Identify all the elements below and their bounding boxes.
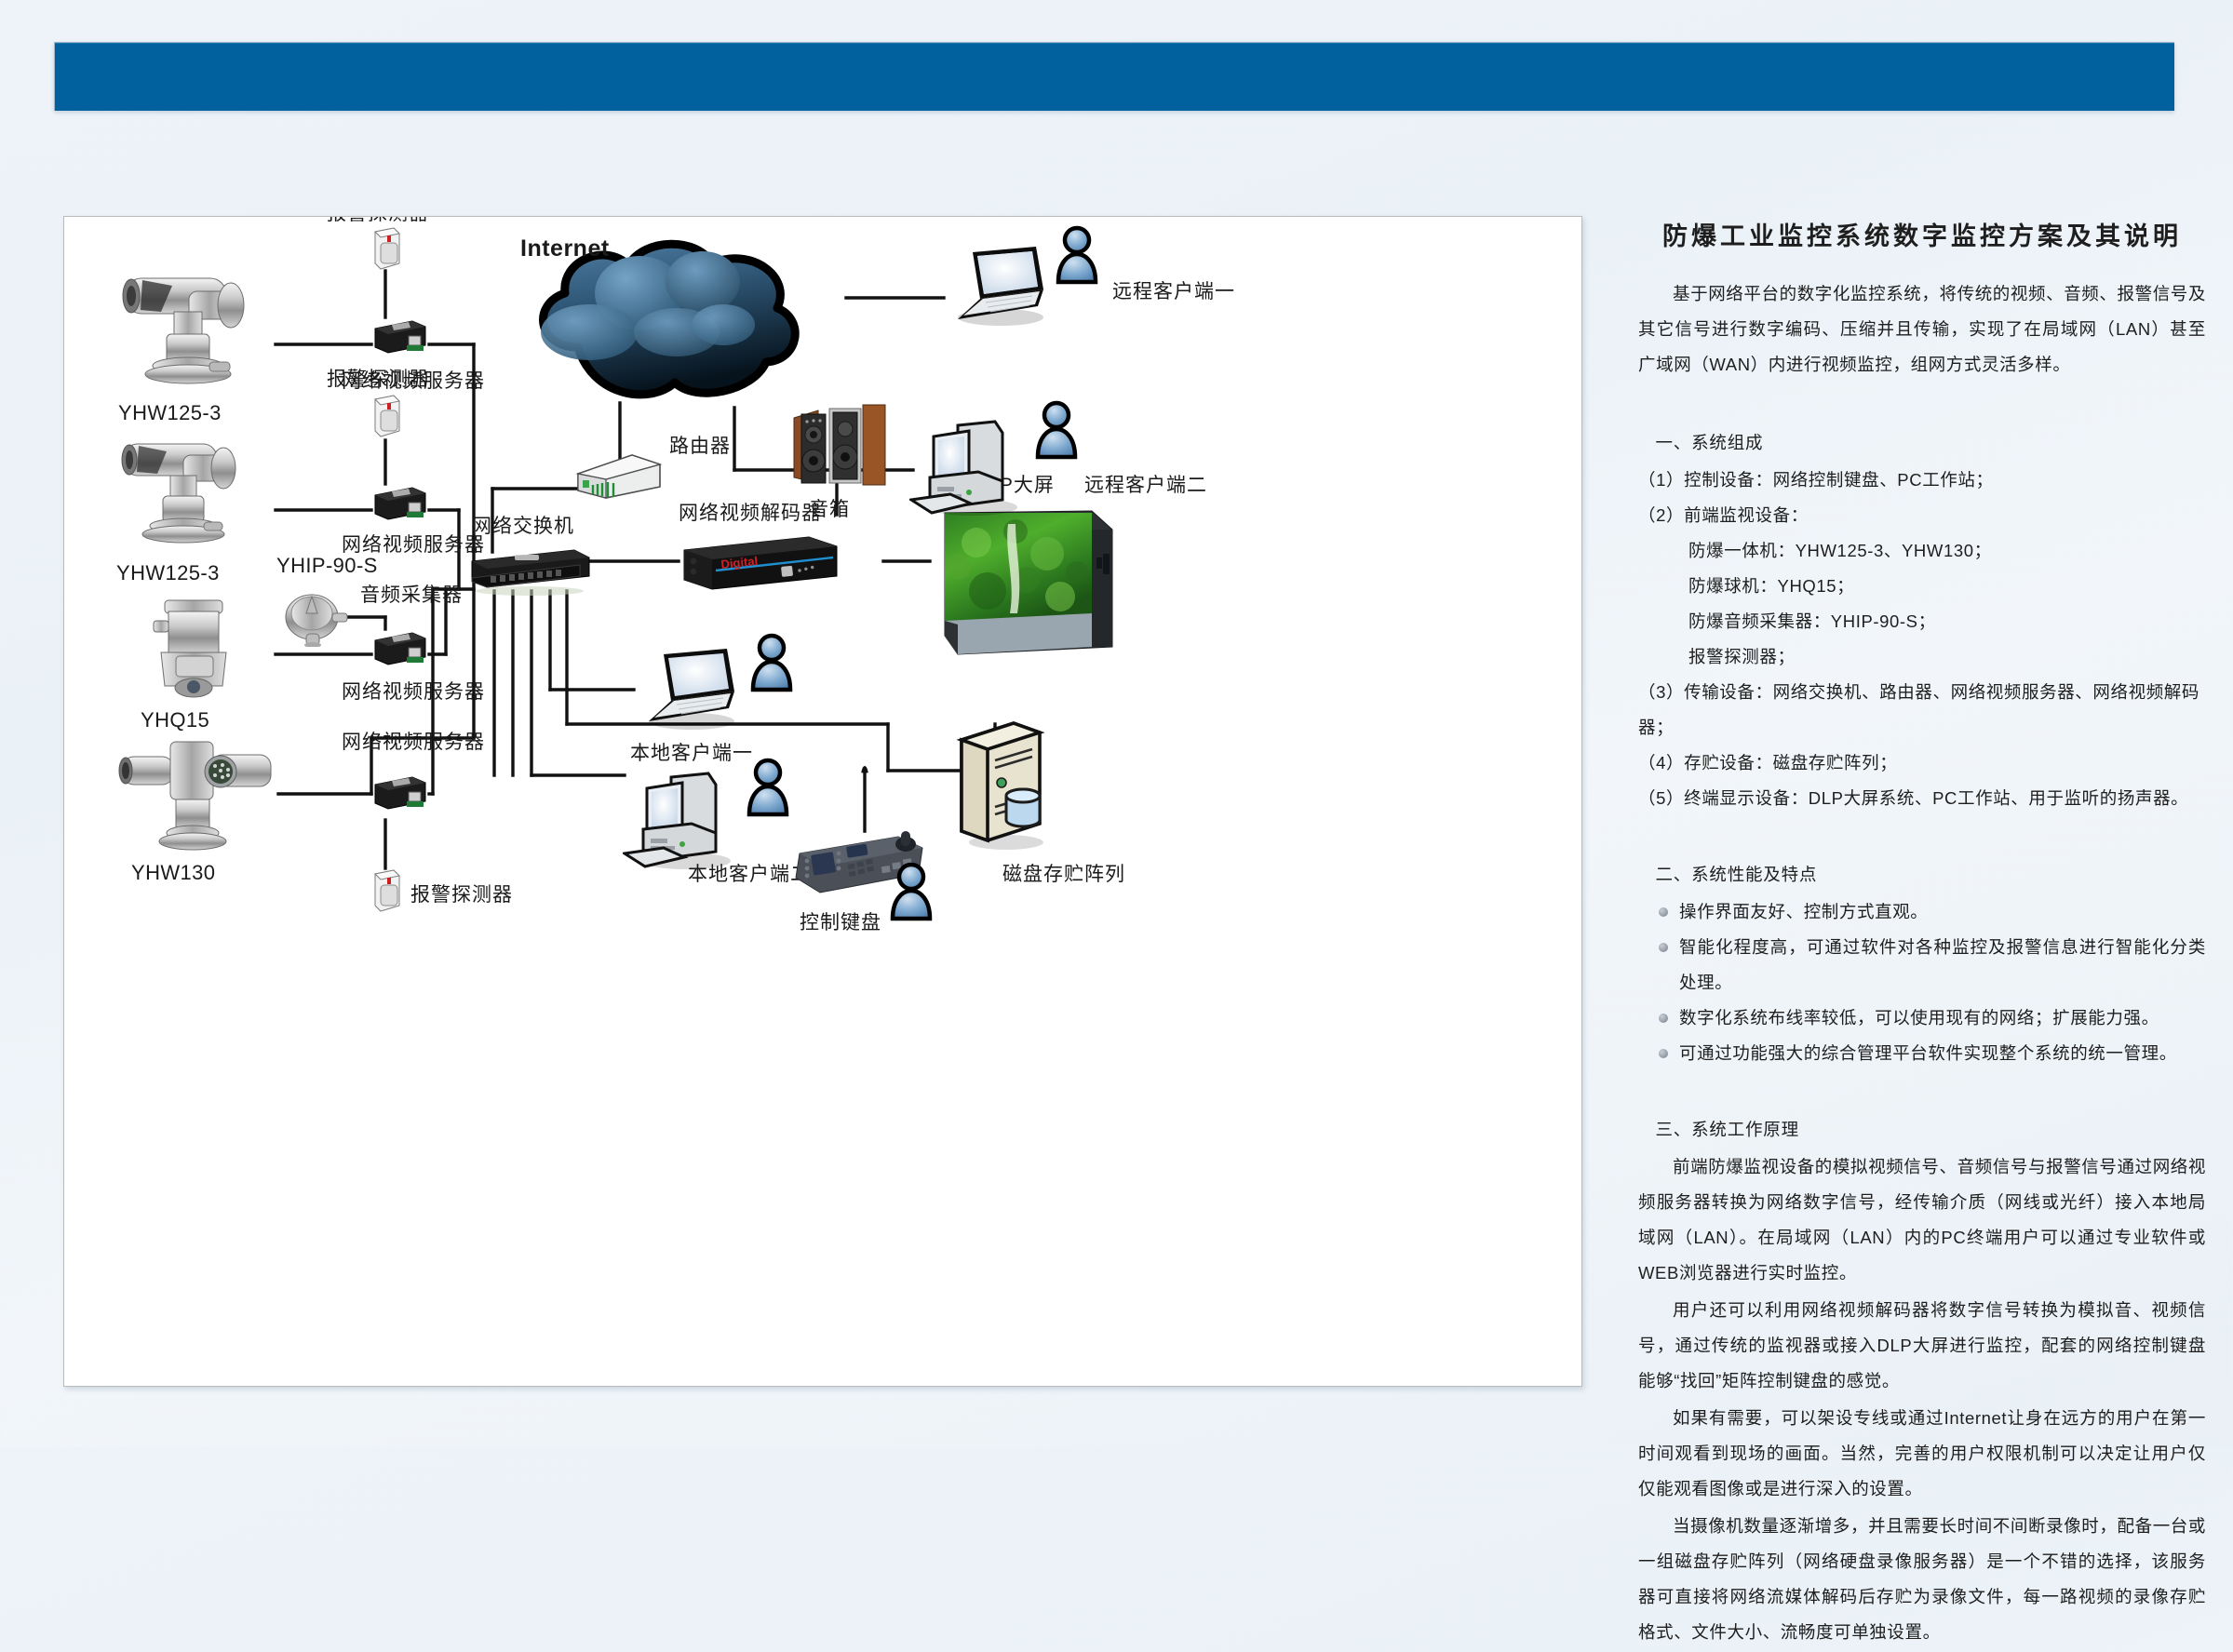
video-server-label-3: 网络视频服务器 (342, 677, 485, 705)
header-banner (54, 42, 2174, 111)
speaker-label: 音箱 (809, 494, 850, 522)
connection-wires (64, 217, 1581, 1386)
explosion-proof-camera-icon (120, 265, 278, 396)
storage-array-icon (948, 719, 1051, 855)
alarm-detector-label-1: 报警探测器 (327, 216, 429, 226)
audio-collector-label: 音频采集器 (360, 580, 463, 608)
section-1-item-1: （1）控制设备：网络控制键盘、PC工作站； (1638, 463, 2206, 498)
video-server-icon (371, 484, 429, 523)
section-1-item-4: 防爆球机：YHQ15； (1638, 569, 2206, 604)
camera-label-yhw125-3-a: YHW125-3 (118, 401, 222, 425)
remote-client-1-label: 远程客户端一 (1112, 276, 1235, 304)
video-server-label-4: 网络视频服务器 (342, 727, 485, 755)
video-decoder-icon: Digital (679, 530, 842, 598)
section-2-bullet-1-text: 操作界面友好、控制方式直观。 (1679, 902, 1928, 921)
section-2-bullet-3: 数字化系统布线率较低，可以使用现有的网络；扩展能力强。 (1638, 1001, 2206, 1036)
camera-label-yhw125-3-b: YHW125-3 (116, 561, 220, 585)
section-2-bullet-2-text: 智能化程度高，可通过软件对各种监控及报警信息进行智能化分类处理。 (1679, 937, 2206, 992)
storage-array-label: 磁盘存贮阵列 (1002, 859, 1125, 887)
explosion-proof-camera-icon (118, 433, 278, 556)
network-switch-label: 网络交换机 (472, 511, 574, 539)
section-2-bullet-1: 操作界面友好、控制方式直观。 (1638, 894, 2206, 930)
section-2-bullet-4-text: 可通过功能强大的综合管理平台软件实现整个系统的统一管理。 (1679, 1043, 2177, 1063)
section-2-bullet-3-text: 数字化系统布线率较低，可以使用现有的网络；扩展能力强。 (1679, 1008, 2159, 1027)
section-3-para-3: 如果有需要，可以架设专线或通过Internet让身在远方的用户在第一时间观看到现… (1638, 1401, 2206, 1507)
network-switch-icon (464, 544, 595, 597)
bullet-dot-icon (1659, 1014, 1668, 1023)
section-1-heading: 一、系统组成 (1638, 425, 2206, 461)
user-avatar-icon (747, 632, 796, 693)
alarm-detector-label-3: 报警探测器 (410, 880, 513, 907)
laptop-icon (630, 647, 742, 732)
bullet-dot-icon (1659, 1049, 1668, 1058)
local-client-1-label: 本地客户端一 (630, 738, 753, 766)
router-label: 路由器 (669, 431, 731, 459)
document-title: 防爆工业监控系统数字监控方案及其说明 (1638, 216, 2206, 252)
section-2-heading: 二、系统性能及特点 (1638, 857, 2206, 893)
internet-label: Internet (520, 235, 610, 262)
user-avatar-icon (1032, 399, 1081, 461)
explosion-proof-dome-camera-icon (144, 597, 247, 706)
section-1-item-2: （2）前端监视设备： (1638, 498, 2206, 533)
section-3-heading: 三、系统工作原理 (1638, 1112, 2206, 1148)
audio-collector-model-label: YHIP-90-S (276, 554, 378, 578)
section-1-item-3: 防爆一体机：YHW125-3、YHW130； (1638, 533, 2206, 569)
section-3-para-2: 用户还可以利用网络视频解码器将数字信号转换为模拟音、视频信号，通过传统的监视器或… (1638, 1293, 2206, 1399)
user-avatar-icon (887, 861, 935, 922)
video-server-icon (371, 773, 429, 813)
router-icon (574, 451, 664, 502)
section-3-para-4: 当摄像机数量逐渐增多，并且需要长时间不间断录像时，配备一台或一组磁盘存贮阵列（网… (1638, 1509, 2206, 1650)
network-diagram-panel: YHW125-3 报警探测器 网络视频服务器 (63, 216, 1582, 1387)
alarm-detector-label-2: 报警探测器 (327, 364, 429, 392)
video-server-icon (371, 629, 429, 668)
description-column: 防爆工业监控系统数字监控方案及其说明 基于网络平台的数字化监控系统，将传统的视频… (1638, 216, 2206, 1652)
explosion-proof-camera-icon (118, 734, 286, 855)
section-2-bullet-2: 智能化程度高，可通过软件对各种监控及报警信息进行智能化分类处理。 (1638, 930, 2206, 1001)
section-1-item-8: （4）存贮设备：磁盘存贮阵列； (1638, 745, 2206, 781)
camera-label-yhq15: YHQ15 (141, 708, 209, 732)
video-server-icon (371, 317, 429, 356)
bullet-dot-icon (1659, 907, 1668, 917)
alarm-detector-icon (370, 226, 403, 271)
video-decoder-label: 网络视频解码器 (679, 498, 822, 526)
intro-paragraph: 基于网络平台的数字化监控系统，将传统的视频、音频、报警信号及其它信号进行数字编码… (1638, 276, 2206, 383)
speaker-icon (790, 403, 889, 487)
alarm-detector-icon (370, 868, 403, 913)
user-avatar-icon (744, 757, 792, 818)
remote-client-2-label: 远程客户端二 (1084, 470, 1207, 498)
alarm-detector-icon (370, 394, 403, 438)
control-keyboard-label: 控制键盘 (800, 907, 881, 935)
dlp-big-screen-icon (930, 505, 1125, 673)
section-2-bullet-4: 可通过功能强大的综合管理平台软件实现整个系统的统一管理。 (1638, 1036, 2206, 1071)
section-1-item-6: 报警探测器； (1638, 639, 2206, 675)
section-1-item-5: 防爆音频采集器：YHIP-90-S； (1638, 604, 2206, 639)
desktop-pc-icon (909, 420, 1027, 518)
section-3-para-1: 前端防爆监视设备的模拟视频信号、音频信号与报警信号通过网络视频服务器转换为网络数… (1638, 1149, 2206, 1291)
user-avatar-icon (1053, 224, 1101, 286)
section-1-item-7: （3）传输设备：网络交换机、路由器、网络视频服务器、网络视频解码器； (1638, 675, 2206, 745)
section-1-item-9: （5）终端显示设备：DLP大屏系统、PC工作站、用于监听的扬声器。 (1638, 781, 2206, 816)
bullet-dot-icon (1659, 943, 1668, 952)
camera-label-yhw130: YHW130 (131, 861, 215, 885)
audio-collector-icon (280, 589, 351, 647)
laptop-icon (939, 245, 1051, 329)
